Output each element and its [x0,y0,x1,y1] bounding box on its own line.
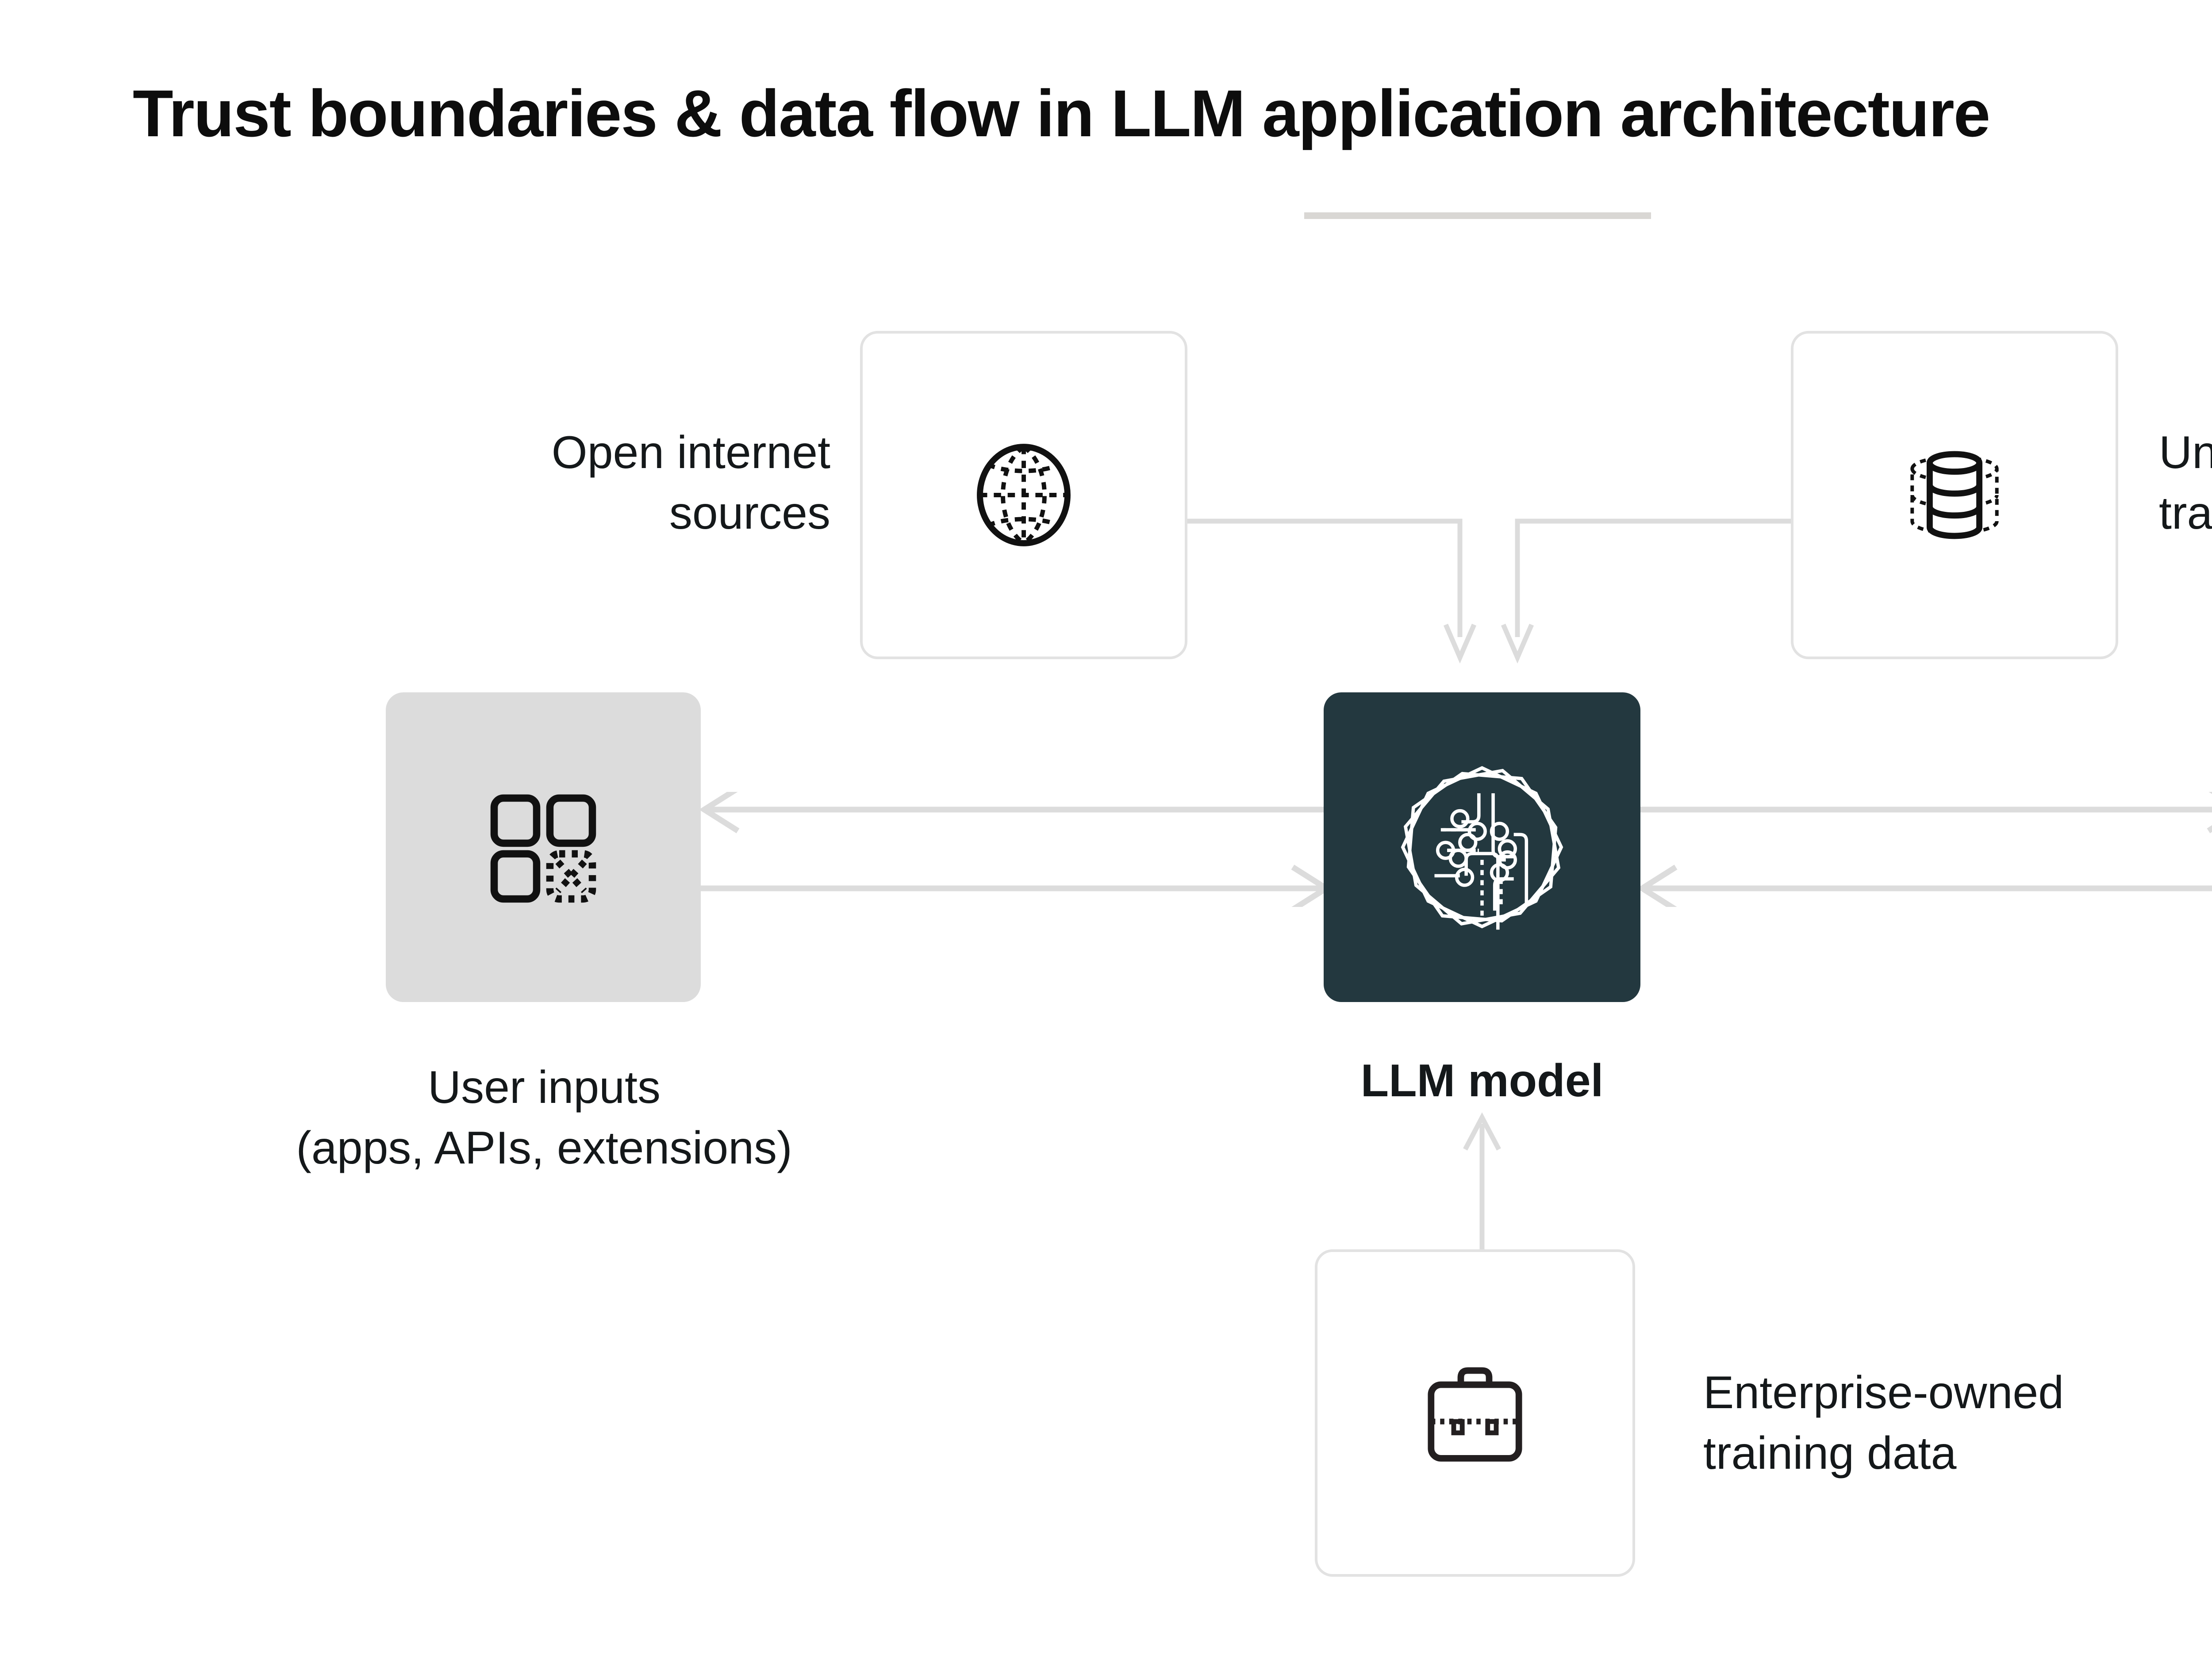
node-enterprise-owned-training-data[interactable] [1315,1249,1635,1577]
arrow-plugins-to-llm [1642,867,2212,907]
label-open-internet-sources: Open internet sources [189,422,830,544]
node-open-internet-sources[interactable] [860,331,1187,659]
app-grid-icon [477,781,610,914]
connector-internet-to-llm [1168,469,1504,672]
arrow-llm-to-plugins [1628,792,2212,831]
connector-enterprise-to-llm [1442,1106,1522,1261]
diagram-canvas: Trust boundaries & data flow in LLM appl… [0,0,2212,1659]
node-uncurated-training-data[interactable] [1791,331,2118,659]
arrow-userinputs-to-llm [690,867,1326,907]
connector-training-to-llm [1473,469,1809,672]
briefcase-icon [1404,1342,1546,1484]
neural-circuit-icon [1387,752,1577,942]
database-icon [1882,422,2028,568]
title-underline-rule [1304,212,1651,219]
connector-llm-userinputs-pair [690,792,1340,907]
label-uncurated-training-data: Uncurated training data [2159,422,2212,544]
label-enterprise-owned-training-data: Enterprise-owned training data [1703,1363,2212,1484]
node-user-inputs[interactable] [386,692,701,1002]
globe-icon [951,422,1097,568]
label-llm-model: LLM model [1239,1051,1725,1111]
connector-llm-plugins-pair [1628,792,2212,907]
label-user-inputs: User inputs (apps, APIs, extensions) [80,1057,1009,1179]
label-connected-services-plugins: Connected services & plugins [2053,1057,2212,1179]
node-llm-model[interactable] [1324,692,1640,1002]
page-title: Trust boundaries & data flow in LLM appl… [133,75,1989,152]
arrow-llm-to-userinputs [704,792,1340,831]
